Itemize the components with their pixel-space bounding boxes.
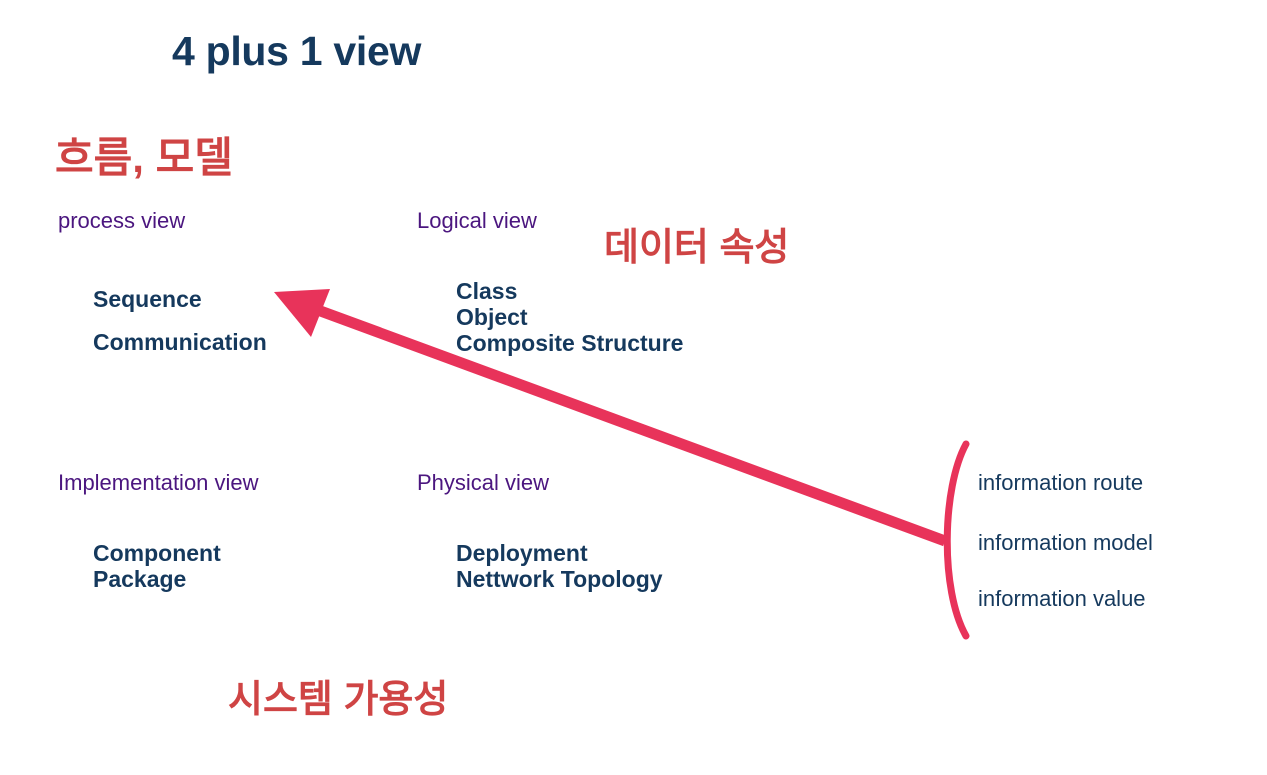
item-list-physical: Deployment Nettwork Topology <box>456 540 663 592</box>
list-item: Nettwork Topology <box>456 566 663 592</box>
page-title: 4 plus 1 view <box>172 28 421 75</box>
item-list-logical: Class Object Composite Structure <box>456 278 683 356</box>
list-item: Component <box>93 540 221 566</box>
information-item-route: information route <box>978 470 1143 496</box>
list-item: Deployment <box>456 540 663 566</box>
slide-canvas: 4 plus 1 view 흐름, 모델 데이터 속성 시스템 가용성 proc… <box>0 0 1267 775</box>
list-item: Class <box>456 278 683 304</box>
annotation-system-availability: 시스템 가용성 <box>228 668 448 723</box>
information-item-value: information value <box>978 586 1146 612</box>
list-item: Object <box>456 304 683 330</box>
list-item: Sequence <box>93 278 267 321</box>
view-label-implementation: Implementation view <box>58 470 259 496</box>
view-label-logical: Logical view <box>417 208 537 234</box>
item-list-process: Sequence Communication <box>93 278 267 363</box>
red-arrow-icon <box>0 0 1267 775</box>
view-label-process: process view <box>58 208 185 234</box>
information-item-model: information model <box>978 530 1153 556</box>
item-list-implementation: Component Package <box>93 540 221 592</box>
list-item: Composite Structure <box>456 330 683 356</box>
list-item: Package <box>93 566 221 592</box>
annotation-flow-model: 흐름, 모델 <box>55 124 233 185</box>
annotation-data-attribute: 데이터 속성 <box>604 216 789 271</box>
list-item: Communication <box>93 321 267 364</box>
view-label-physical: Physical view <box>417 470 549 496</box>
